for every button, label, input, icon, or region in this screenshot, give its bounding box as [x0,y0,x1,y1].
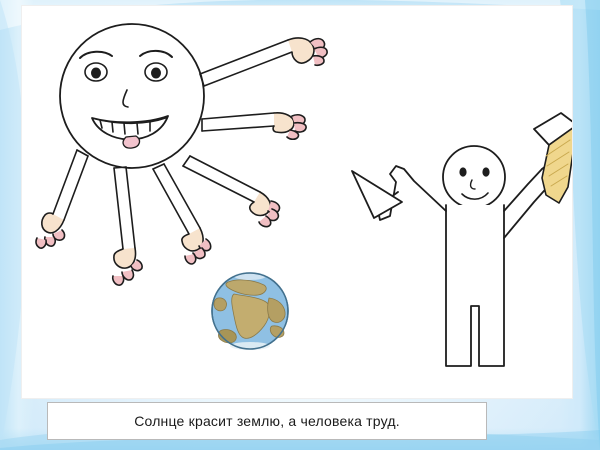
drawing-canvas [22,6,572,398]
sun-ray-arm-6 [36,150,88,248]
sun-ray-arm-1 [200,38,327,86]
caption-text: Солнце красит землю, а человека труд. [134,413,400,429]
slide-root: Солнце красит землю, а человека труд. [0,0,600,450]
caption-box: Солнце красит землю, а человека труд. [47,402,487,440]
hand-drawing [22,6,572,398]
sun-ray-arm-4 [153,164,211,264]
sun-icon [60,24,204,168]
globe-icon [212,272,288,350]
sun-ray-arm-2 [202,113,306,139]
sun-ray-arm-5 [113,167,142,285]
person-icon [352,113,572,366]
hammer-icon [534,113,572,203]
sun-ray-arm-3 [183,156,280,227]
